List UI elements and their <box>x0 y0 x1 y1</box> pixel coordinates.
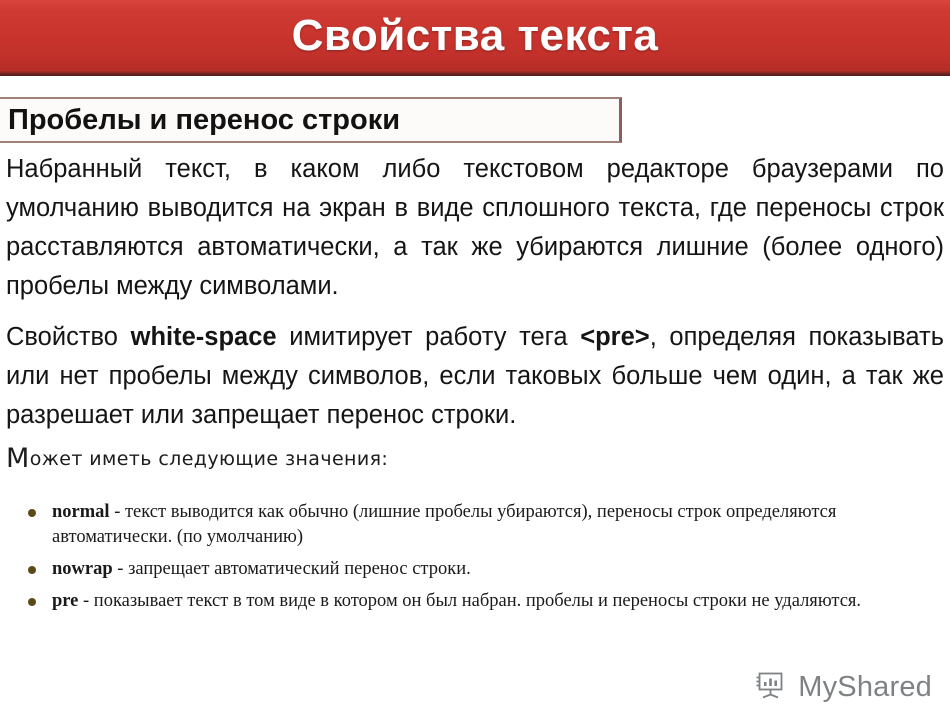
bullet-dot-icon <box>28 509 36 517</box>
subtitle-box: Пробелы и перенос строки <box>0 97 622 143</box>
value-name: nowrap <box>52 559 113 579</box>
paragraph-1: Набранный текст, в каком либо текстовом … <box>6 150 944 306</box>
page-title: Свойства текста <box>292 14 659 58</box>
inline-code-term: white-space <box>131 323 277 351</box>
value-name: pre <box>52 591 78 611</box>
slide-root: { "header": { "title": "Свойства текста"… <box>0 0 950 720</box>
presentation-chart-icon <box>755 669 789 706</box>
body-content: Набранный текст, в каком либо текстовом … <box>6 150 944 435</box>
inline-text: имитирует работу тега <box>277 323 581 351</box>
values-intro-rest: ожет иметь следующие значения: <box>30 448 389 470</box>
myshared-watermark: MyShared <box>755 669 932 706</box>
list-item: pre - показывает текст в том виде в кото… <box>22 589 937 614</box>
value-description: - текст выводится как обычно (лишние про… <box>52 502 836 547</box>
inline-text: Набранный текст, в каком либо текстовом … <box>6 155 944 300</box>
slide-header-banner: Свойства текста <box>0 0 950 76</box>
values-intro-lead-letter: М <box>6 443 30 474</box>
paragraph-2: Свойство white-space имитирует работу те… <box>6 318 944 435</box>
value-name: normal <box>52 502 110 522</box>
values-list: normal - текст выводится как обычно (лиш… <box>22 500 937 614</box>
subtitle-text: Пробелы и перенос строки <box>0 106 400 135</box>
value-description: - запрещает автоматический перенос строк… <box>113 559 471 579</box>
inline-text: Свойство <box>6 323 131 351</box>
list-item: nowrap - запрещает автоматический перено… <box>22 557 937 582</box>
bullet-dot-icon <box>28 598 36 606</box>
myshared-watermark-label: MyShared <box>798 673 932 702</box>
values-intro-line: Может иметь следующие значения: <box>6 448 388 470</box>
value-description: - показывает текст в том виде в котором … <box>78 591 861 611</box>
bullet-dot-icon <box>28 566 36 574</box>
inline-code-term: <pre> <box>580 323 649 351</box>
list-item: normal - текст выводится как обычно (лиш… <box>22 500 937 550</box>
